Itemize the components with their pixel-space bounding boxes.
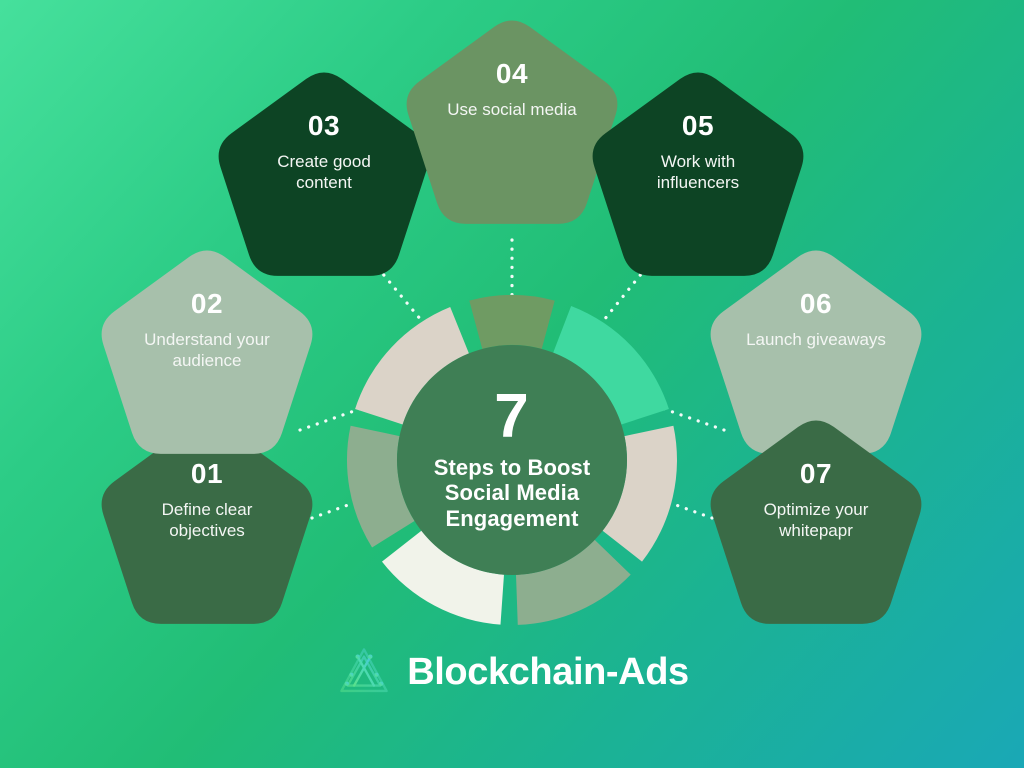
infographic-canvas: 01Define clear objectives02Understand yo… [0,0,1024,768]
donut-segment-04[interactable] [469,295,554,349]
brand-logo: Blockchain-Ads [0,637,1024,707]
step-pentagon-07[interactable] [711,420,922,623]
hub-center-circle [397,345,627,575]
step-pentagon-05[interactable] [593,72,804,275]
step-pentagon-04[interactable] [407,20,618,223]
brand-wordmark: Blockchain-Ads [407,653,689,691]
step-pentagon-03[interactable] [219,72,430,275]
blockchain-triangle-icon [335,644,393,700]
step-pentagon-02[interactable] [102,250,313,453]
